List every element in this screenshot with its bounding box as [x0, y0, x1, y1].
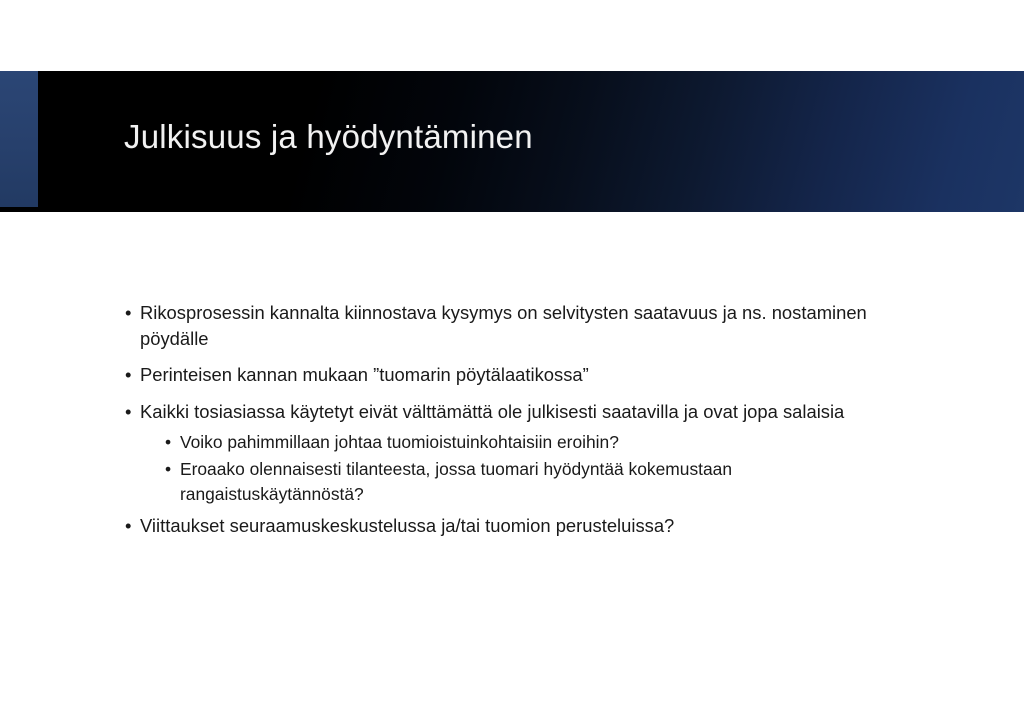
sub-bullet-item: • Voiko pahimmillaan johtaa tuomioistuin… — [0, 430, 1024, 455]
bullet-dot-icon: • — [125, 399, 137, 425]
bullet-item: • Perinteisen kannan mukaan ”tuomarin pö… — [0, 362, 1024, 388]
bullet-item: • Rikosprosessin kannalta kiinnostava ky… — [0, 300, 1024, 351]
bullet-dot-icon: • — [165, 457, 177, 482]
sub-bullet-item: • Eroaako olennaisesti tilanteesta, joss… — [0, 457, 1024, 507]
bullet-dot-icon: • — [125, 362, 137, 388]
accent-bar — [0, 71, 38, 207]
bullet-text: Viittaukset seuraamuskeskustelussa ja/ta… — [140, 513, 928, 539]
slide-title: Julkisuus ja hyödyntäminen — [124, 117, 533, 157]
bullet-dot-icon: • — [125, 300, 137, 326]
sub-bullet-text: Eroaako olennaisesti tilanteesta, jossa … — [180, 457, 874, 507]
bullet-dot-icon: • — [165, 430, 177, 455]
bullet-text: Perinteisen kannan mukaan ”tuomarin pöyt… — [140, 362, 928, 388]
sub-bullet-text: Voiko pahimmillaan johtaa tuomioistuinko… — [180, 430, 874, 455]
bullet-item: • Kaikki tosiasiassa käytetyt eivät vält… — [0, 399, 1024, 425]
bullet-dot-icon: • — [125, 513, 137, 539]
bullet-text: Kaikki tosiasiassa käytetyt eivät välttä… — [140, 399, 928, 425]
presentation-slide: Julkisuus ja hyödyntäminen • Rikosproses… — [0, 0, 1024, 724]
bullet-text: Rikosprosessin kannalta kiinnostava kysy… — [140, 300, 928, 351]
bullet-item: • Viittaukset seuraamuskeskustelussa ja/… — [0, 513, 1024, 539]
slide-body: • Rikosprosessin kannalta kiinnostava ky… — [0, 300, 1024, 545]
